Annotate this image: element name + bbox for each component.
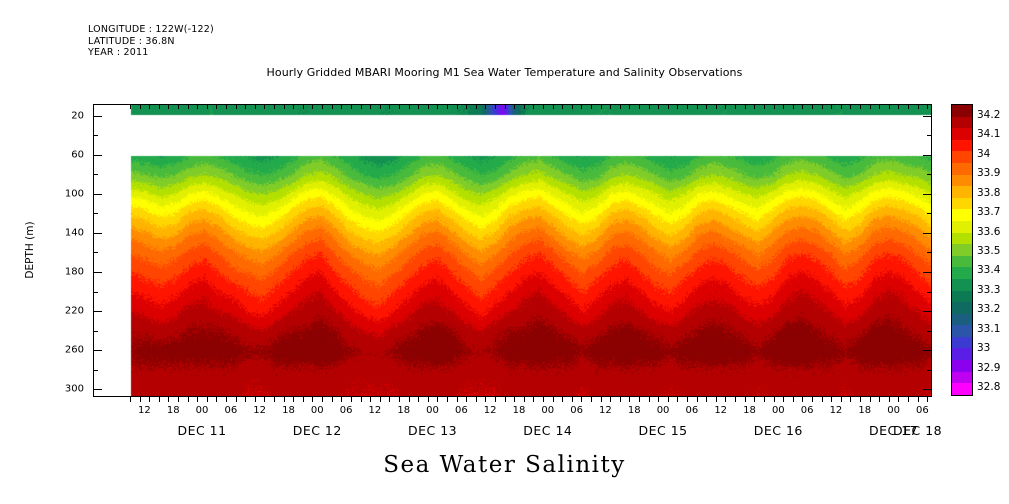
x-axis-minor-tick xyxy=(850,104,851,109)
x-axis-minor-tick xyxy=(485,104,486,109)
x-axis-tick-label: 18 xyxy=(167,405,180,416)
x-axis-minor-tick xyxy=(284,397,285,402)
x-axis-minor-tick xyxy=(543,397,544,402)
colorbar-swatch xyxy=(952,291,972,303)
colorbar-swatch xyxy=(952,233,972,245)
x-axis-day-label: DEC 13 xyxy=(408,423,457,438)
x-axis-minor-tick xyxy=(725,397,726,402)
x-axis-minor-tick xyxy=(543,104,544,109)
y-axis-tick-label: 60 xyxy=(48,149,84,160)
colorbar-swatch xyxy=(952,302,972,314)
x-axis-minor-tick xyxy=(149,397,150,402)
x-axis-minor-tick xyxy=(879,397,880,402)
x-axis-minor-tick xyxy=(658,104,659,109)
x-axis-day-label: DEC 11 xyxy=(177,423,226,438)
x-axis-minor-tick xyxy=(495,104,496,109)
colorbar-swatch xyxy=(952,151,972,163)
x-axis-minor-tick xyxy=(754,104,755,109)
x-axis-tick-label: 00 xyxy=(887,405,900,416)
x-axis-minor-tick xyxy=(754,397,755,402)
colorbar-swatch xyxy=(952,256,972,268)
x-axis-minor-tick xyxy=(822,104,823,109)
x-axis-minor-tick xyxy=(870,104,871,109)
x-axis-minor-tick xyxy=(466,104,467,109)
x-axis-minor-tick xyxy=(332,104,333,109)
x-axis-minor-tick xyxy=(236,397,237,402)
y-axis-major-tick xyxy=(923,350,932,351)
x-axis-minor-tick xyxy=(639,397,640,402)
x-axis-minor-tick xyxy=(898,397,899,402)
x-axis-tick-label: 06 xyxy=(340,405,353,416)
y-axis-minor-tick xyxy=(927,213,932,214)
x-axis-minor-tick xyxy=(255,397,256,402)
y-axis-minor-tick xyxy=(93,252,98,253)
x-axis-minor-tick xyxy=(389,397,390,402)
x-axis-minor-tick xyxy=(735,104,736,109)
x-axis-minor-tick xyxy=(361,397,362,402)
colorbar xyxy=(951,104,973,396)
x-axis-minor-tick xyxy=(745,397,746,402)
x-axis-minor-tick xyxy=(197,104,198,109)
colorbar-tick-label: 33.8 xyxy=(977,187,1000,199)
colorbar-tick-label: 32.8 xyxy=(977,381,1000,393)
x-axis-tick-label: 12 xyxy=(599,405,612,416)
x-axis-minor-tick xyxy=(822,397,823,402)
x-axis-minor-tick xyxy=(447,397,448,402)
x-axis-tick-label: 06 xyxy=(570,405,583,416)
y-axis-minor-tick xyxy=(927,370,932,371)
x-axis-minor-tick xyxy=(332,397,333,402)
x-axis-minor-tick xyxy=(620,397,621,402)
x-axis-minor-tick xyxy=(927,397,928,402)
x-axis-minor-tick xyxy=(293,104,294,109)
x-axis-tick-label: 18 xyxy=(743,405,756,416)
x-axis-tick-label: 00 xyxy=(426,405,439,416)
x-axis-minor-tick xyxy=(274,397,275,402)
x-axis-minor-tick xyxy=(303,104,304,109)
x-axis-minor-tick xyxy=(495,397,496,402)
x-axis-minor-tick xyxy=(687,104,688,109)
x-axis-minor-tick xyxy=(466,397,467,402)
x-axis-minor-tick xyxy=(677,397,678,402)
x-axis-tick-label: 06 xyxy=(801,405,814,416)
x-axis-minor-tick xyxy=(399,104,400,109)
x-axis-tick-label: 18 xyxy=(513,405,526,416)
x-axis-minor-tick xyxy=(505,397,506,402)
x-axis-minor-tick xyxy=(553,397,554,402)
x-axis-minor-tick xyxy=(428,397,429,402)
x-axis-minor-tick xyxy=(725,104,726,109)
colorbar-tick-label: 33.6 xyxy=(977,226,1000,238)
y-axis-major-tick xyxy=(923,272,932,273)
x-axis-minor-tick xyxy=(505,104,506,109)
x-axis-minor-tick xyxy=(409,104,410,109)
x-axis-minor-tick xyxy=(312,397,313,402)
x-axis-minor-tick xyxy=(581,104,582,109)
x-axis-minor-tick xyxy=(793,397,794,402)
x-axis-minor-tick xyxy=(207,397,208,402)
x-axis-minor-tick xyxy=(524,104,525,109)
y-axis-major-tick xyxy=(93,389,102,390)
colorbar-swatch xyxy=(952,337,972,349)
y-axis-minor-tick xyxy=(927,292,932,293)
x-axis-minor-tick xyxy=(831,397,832,402)
y-axis-major-tick xyxy=(923,194,932,195)
x-axis-minor-tick xyxy=(245,397,246,402)
chart-title: Hourly Gridded MBARI Mooring M1 Sea Wate… xyxy=(0,66,1009,79)
x-axis-minor-tick xyxy=(370,104,371,109)
colorbar-swatch xyxy=(952,186,972,198)
y-axis-minor-tick xyxy=(93,135,98,136)
x-axis-minor-tick xyxy=(130,397,131,402)
x-axis-minor-tick xyxy=(745,104,746,109)
x-axis-minor-tick xyxy=(476,104,477,109)
x-axis-tick-label: 12 xyxy=(138,405,151,416)
x-axis-minor-tick xyxy=(841,397,842,402)
colorbar-tick-label: 33.2 xyxy=(977,303,1000,315)
x-axis-minor-tick xyxy=(793,104,794,109)
x-axis-minor-tick xyxy=(802,397,803,402)
x-axis-minor-tick xyxy=(418,397,419,402)
x-axis-minor-tick xyxy=(168,104,169,109)
x-axis-day-label: DEC 15 xyxy=(638,423,687,438)
y-axis-major-tick xyxy=(93,350,102,351)
colorbar-swatch xyxy=(952,325,972,337)
x-axis-minor-tick xyxy=(908,397,909,402)
x-axis-minor-tick xyxy=(533,397,534,402)
x-axis-minor-tick xyxy=(562,397,563,402)
y-axis-major-tick xyxy=(923,389,932,390)
x-axis-minor-tick xyxy=(457,104,458,109)
x-axis-minor-tick xyxy=(130,104,131,109)
y-axis-tick-label: 300 xyxy=(48,384,84,395)
x-axis-minor-tick xyxy=(178,104,179,109)
x-axis-minor-tick xyxy=(668,397,669,402)
figure-caption: Sea Water Salinity xyxy=(0,452,1009,478)
x-axis-minor-tick xyxy=(783,104,784,109)
x-axis-minor-tick xyxy=(274,104,275,109)
salinity-heatmap-canvas xyxy=(94,105,931,396)
x-axis-minor-tick xyxy=(591,104,592,109)
x-axis-tick-label: 12 xyxy=(714,405,727,416)
y-axis-minor-tick xyxy=(93,213,98,214)
x-axis-minor-tick xyxy=(706,104,707,109)
x-axis-minor-tick xyxy=(649,397,650,402)
x-axis-day-label: DEC 14 xyxy=(523,423,572,438)
colorbar-swatch xyxy=(952,279,972,291)
y-axis-major-tick xyxy=(923,155,932,156)
x-axis-minor-tick xyxy=(418,104,419,109)
x-axis-minor-tick xyxy=(764,104,765,109)
y-axis-tick-label: 220 xyxy=(48,306,84,317)
x-axis-minor-tick xyxy=(764,397,765,402)
x-axis-minor-tick xyxy=(716,397,717,402)
x-axis-minor-tick xyxy=(774,104,775,109)
x-axis-minor-tick xyxy=(216,104,217,109)
x-axis-tick-label: 06 xyxy=(916,405,929,416)
colorbar-swatch xyxy=(952,140,972,152)
x-axis-minor-tick xyxy=(351,104,352,109)
x-axis-tick-label: 12 xyxy=(369,405,382,416)
x-axis-minor-tick xyxy=(264,104,265,109)
x-axis-minor-tick xyxy=(879,104,880,109)
colorbar-swatch xyxy=(952,175,972,187)
x-axis-minor-tick xyxy=(341,104,342,109)
x-axis-minor-tick xyxy=(188,397,189,402)
x-axis-minor-tick xyxy=(870,397,871,402)
y-axis-tick-label: 140 xyxy=(48,227,84,238)
x-axis-day-label: DEC 18 xyxy=(893,423,942,438)
colorbar-swatch xyxy=(952,209,972,221)
x-axis-minor-tick xyxy=(514,397,515,402)
y-axis-minor-tick xyxy=(93,174,98,175)
x-axis-tick-label: 18 xyxy=(858,405,871,416)
colorbar-swatch xyxy=(952,198,972,210)
x-axis-minor-tick xyxy=(428,104,429,109)
y-axis-major-tick xyxy=(93,233,102,234)
x-axis-minor-tick xyxy=(841,104,842,109)
x-axis-minor-tick xyxy=(889,397,890,402)
y-axis-minor-tick xyxy=(93,370,98,371)
x-axis-minor-tick xyxy=(649,104,650,109)
x-axis-minor-tick xyxy=(264,397,265,402)
x-axis-minor-tick xyxy=(188,104,189,109)
x-axis-tick-label: 18 xyxy=(397,405,410,416)
y-axis-tick-label: 20 xyxy=(48,110,84,121)
x-axis-tick-label: 18 xyxy=(282,405,295,416)
x-axis-minor-tick xyxy=(783,397,784,402)
colorbar-tick-label: 33.1 xyxy=(977,323,1000,335)
year-text: YEAR : 2011 xyxy=(88,47,149,58)
x-axis-minor-tick xyxy=(159,397,160,402)
x-axis-minor-tick xyxy=(437,397,438,402)
x-axis-minor-tick xyxy=(197,397,198,402)
x-axis-minor-tick xyxy=(476,397,477,402)
colorbar-tick-label: 33.7 xyxy=(977,206,1000,218)
colorbar-swatch xyxy=(952,314,972,326)
x-axis-minor-tick xyxy=(610,104,611,109)
x-axis-minor-tick xyxy=(850,397,851,402)
x-axis-minor-tick xyxy=(553,104,554,109)
colorbar-tick-label: 32.9 xyxy=(977,362,1000,374)
x-axis-minor-tick xyxy=(380,397,381,402)
colorbar-swatch xyxy=(952,105,972,117)
x-axis-minor-tick xyxy=(706,397,707,402)
x-axis-minor-tick xyxy=(322,104,323,109)
x-axis-minor-tick xyxy=(207,104,208,109)
y-axis-tick-label: 180 xyxy=(48,266,84,277)
x-axis-minor-tick xyxy=(216,397,217,402)
x-axis-minor-tick xyxy=(533,104,534,109)
x-axis-minor-tick xyxy=(572,397,573,402)
x-axis-minor-tick xyxy=(178,397,179,402)
x-axis-minor-tick xyxy=(889,104,890,109)
x-axis-minor-tick xyxy=(918,104,919,109)
x-axis-minor-tick xyxy=(437,104,438,109)
y-axis-major-tick xyxy=(93,194,102,195)
colorbar-swatch xyxy=(952,128,972,140)
y-axis-minor-tick xyxy=(927,331,932,332)
x-axis-tick-label: 12 xyxy=(253,405,266,416)
y-axis-major-tick xyxy=(923,233,932,234)
x-axis-minor-tick xyxy=(284,104,285,109)
y-axis-major-tick xyxy=(93,311,102,312)
x-axis-minor-tick xyxy=(591,397,592,402)
y-axis-label: DEPTH (m) xyxy=(24,221,36,278)
x-axis-minor-tick xyxy=(716,104,717,109)
x-axis-minor-tick xyxy=(140,104,141,109)
x-axis-minor-tick xyxy=(629,104,630,109)
x-axis-minor-tick xyxy=(226,104,227,109)
x-axis-minor-tick xyxy=(293,397,294,402)
x-axis-minor-tick xyxy=(898,104,899,109)
colorbar-tick-label: 33.4 xyxy=(977,264,1000,276)
x-axis-minor-tick xyxy=(457,397,458,402)
station-metadata: LONGITUDE : 122W(-122) LATITUDE : 36.8N … xyxy=(88,24,214,59)
x-axis-minor-tick xyxy=(927,104,928,109)
y-axis-major-tick xyxy=(93,155,102,156)
x-axis-day-label: DEC 12 xyxy=(293,423,342,438)
x-axis-tick-label: 06 xyxy=(455,405,468,416)
x-axis-minor-tick xyxy=(601,104,602,109)
x-axis-minor-tick xyxy=(860,104,861,109)
y-axis-major-tick xyxy=(923,311,932,312)
y-axis-major-tick xyxy=(923,116,932,117)
x-axis-tick-label: 12 xyxy=(830,405,843,416)
contour-field xyxy=(94,105,931,396)
y-axis-minor-tick xyxy=(93,331,98,332)
x-axis-tick-label: 06 xyxy=(686,405,699,416)
x-axis-minor-tick xyxy=(341,397,342,402)
x-axis-minor-tick xyxy=(485,397,486,402)
colorbar-swatch xyxy=(952,348,972,360)
x-axis-minor-tick xyxy=(918,397,919,402)
x-axis-minor-tick xyxy=(226,397,227,402)
y-axis-minor-tick xyxy=(927,135,932,136)
x-axis-minor-tick xyxy=(581,397,582,402)
x-axis-minor-tick xyxy=(361,104,362,109)
x-axis-minor-tick xyxy=(802,104,803,109)
x-axis-minor-tick xyxy=(562,104,563,109)
x-axis-minor-tick xyxy=(168,397,169,402)
x-axis-tick-label: 00 xyxy=(311,405,324,416)
colorbar-tick-label: 33.3 xyxy=(977,284,1000,296)
x-axis-minor-tick xyxy=(245,104,246,109)
colorbar-swatch xyxy=(952,360,972,372)
x-axis-minor-tick xyxy=(312,104,313,109)
x-axis-minor-tick xyxy=(236,104,237,109)
x-axis-tick-label: 12 xyxy=(484,405,497,416)
x-axis-minor-tick xyxy=(149,104,150,109)
x-axis-minor-tick xyxy=(812,397,813,402)
x-axis-minor-tick xyxy=(322,397,323,402)
x-axis-minor-tick xyxy=(677,104,678,109)
x-axis-minor-tick xyxy=(658,397,659,402)
x-axis-tick-label: 00 xyxy=(541,405,554,416)
colorbar-swatch xyxy=(952,372,972,384)
x-axis-minor-tick xyxy=(514,104,515,109)
colorbar-swatch xyxy=(952,163,972,175)
x-axis-tick-label: 00 xyxy=(196,405,209,416)
colorbar-tick-label: 33 xyxy=(977,342,990,354)
y-axis-minor-tick xyxy=(93,292,98,293)
x-axis-minor-tick xyxy=(735,397,736,402)
x-axis-minor-tick xyxy=(831,104,832,109)
x-axis-minor-tick xyxy=(159,104,160,109)
x-axis-minor-tick xyxy=(572,104,573,109)
x-axis-minor-tick xyxy=(601,397,602,402)
x-axis-minor-tick xyxy=(639,104,640,109)
x-axis-minor-tick xyxy=(812,104,813,109)
colorbar-swatch xyxy=(952,221,972,233)
x-axis-minor-tick xyxy=(697,104,698,109)
x-axis-minor-tick xyxy=(447,104,448,109)
x-axis-minor-tick xyxy=(303,397,304,402)
x-axis-minor-tick xyxy=(255,104,256,109)
x-axis-minor-tick xyxy=(668,104,669,109)
colorbar-swatch xyxy=(952,117,972,129)
y-axis-tick-label: 260 xyxy=(48,345,84,356)
y-axis-major-tick xyxy=(93,272,102,273)
x-axis-minor-tick xyxy=(620,104,621,109)
x-axis-minor-tick xyxy=(389,104,390,109)
colorbar-tick-label: 34.1 xyxy=(977,128,1000,140)
y-axis-minor-tick xyxy=(927,174,932,175)
x-axis-minor-tick xyxy=(399,397,400,402)
x-axis-minor-tick xyxy=(380,104,381,109)
x-axis-tick-label: 18 xyxy=(628,405,641,416)
longitude-text: LONGITUDE : 122W(-122) xyxy=(88,24,214,35)
x-axis-minor-tick xyxy=(629,397,630,402)
colorbar-tick-label: 33.9 xyxy=(977,167,1000,179)
x-axis-minor-tick xyxy=(409,397,410,402)
x-axis-minor-tick xyxy=(351,397,352,402)
colorbar-tick-label: 34 xyxy=(977,148,990,160)
x-axis-tick-label: 00 xyxy=(772,405,785,416)
x-axis-minor-tick xyxy=(687,397,688,402)
plot-area xyxy=(93,104,932,397)
x-axis-minor-tick xyxy=(860,397,861,402)
colorbar-swatch xyxy=(952,383,972,395)
x-axis-minor-tick xyxy=(370,397,371,402)
x-axis-minor-tick xyxy=(774,397,775,402)
x-axis-minor-tick xyxy=(908,104,909,109)
colorbar-swatch xyxy=(952,267,972,279)
x-axis-tick-label: 00 xyxy=(657,405,670,416)
colorbar-swatch xyxy=(952,244,972,256)
y-axis-tick-label: 100 xyxy=(48,188,84,199)
y-axis-major-tick xyxy=(93,116,102,117)
latitude-text: LATITUDE : 36.8N xyxy=(88,36,175,47)
x-axis-day-label: DEC 16 xyxy=(754,423,803,438)
colorbar-tick-label: 34.2 xyxy=(977,109,1000,121)
x-axis-minor-tick xyxy=(697,397,698,402)
x-axis-tick-label: 06 xyxy=(224,405,237,416)
x-axis-minor-tick xyxy=(610,397,611,402)
x-axis-minor-tick xyxy=(524,397,525,402)
x-axis-minor-tick xyxy=(140,397,141,402)
y-axis-minor-tick xyxy=(927,252,932,253)
colorbar-tick-label: 33.5 xyxy=(977,245,1000,257)
